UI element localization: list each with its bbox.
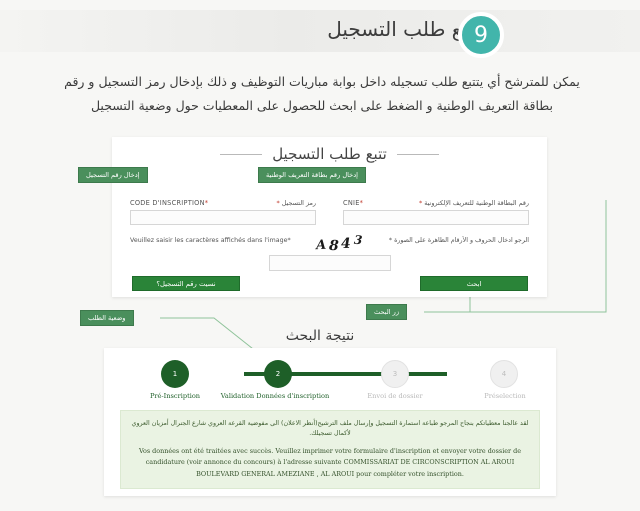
progress-stepper: 1 2 3 4 Pré-Inscription Validation Donné… <box>104 356 556 402</box>
forgot-code-button[interactable]: نسيت رقم التسجيل؟ <box>132 276 240 291</box>
field-cnie-required-fr: * <box>360 199 364 207</box>
intro-paragraph: يمكن للمترشح أي يتتبع طلب تسجيله داخل بو… <box>52 70 592 119</box>
field-code-label-fr: CODE D'INSCRIPTION* <box>130 199 208 207</box>
stepper-node-3-number: 3 <box>393 370 397 378</box>
code-inscription-input[interactable] <box>130 210 316 225</box>
field-code-required-ar: * <box>276 199 279 207</box>
callout-cnie: إدخال رقم بطاقة التعريف الوطنية <box>258 167 366 183</box>
field-code-label-ar: رمز التسجيل * <box>276 199 316 207</box>
stepper-label-2: Validation Données d'inscription <box>210 392 340 400</box>
stepper-node-3: 3 <box>381 360 409 388</box>
page-root: تتبع طلب التسجيل 9 يمكن للمترشح أي يتتبع… <box>0 0 640 511</box>
captcha-hint-fr: Veuillez saisir les caractères affichés … <box>130 237 291 244</box>
stepper-node-2: 2 <box>264 360 292 388</box>
stepper-node-2-number: 2 <box>276 370 280 378</box>
field-code-inscription: CODE D'INSCRIPTION* رمز التسجيل * <box>130 195 316 226</box>
step-number-label: 9 <box>474 23 488 48</box>
stepper-bar-2 <box>267 372 447 376</box>
stepper-node-4-number: 4 <box>502 370 506 378</box>
captcha-hint-ar: الرجو ادخال الحروف و الأرقام الظاهرة على… <box>389 237 529 244</box>
field-code-required-fr: * <box>205 199 209 207</box>
result-message-fr: Vos données ont été traitées avec succès… <box>131 446 529 480</box>
form-fields-row: CODE D'INSCRIPTION* رمز التسجيل * CNIE* … <box>112 195 547 237</box>
search-button[interactable]: ابحث <box>420 276 528 291</box>
form-title: تتبع طلب التسجيل <box>272 145 387 163</box>
captcha-input[interactable] <box>269 255 391 271</box>
captcha-char-2: 8 <box>328 238 338 254</box>
result-message-ar: لقد عالجنا معطياتكم بنجاح المرجو طباعة ا… <box>131 419 529 439</box>
result-message-box: لقد عالجنا معطياتكم بنجاح المرجو طباعة ا… <box>120 410 540 489</box>
field-cnie-required-ar: * <box>419 199 422 207</box>
captcha-char-1: A <box>315 237 326 253</box>
cnie-input[interactable] <box>343 210 529 225</box>
field-cnie: CNIE* رقم البطاقة الوطنية للتعريف الإلكت… <box>343 195 529 226</box>
field-cnie-label-fr: CNIE* <box>343 199 363 207</box>
captcha-char-4: 3 <box>354 233 363 248</box>
form-title-row: تتبع طلب التسجيل <box>112 145 547 163</box>
field-cnie-label-ar: رقم البطاقة الوطنية للتعريف الإلكترونية … <box>419 199 529 207</box>
callout-code-inscription: إدخال رقم التسجيل <box>78 167 148 183</box>
title-rule-left <box>220 154 262 155</box>
field-cnie-labels: CNIE* رقم البطاقة الوطنية للتعريف الإلكت… <box>343 195 529 207</box>
title-rule-right <box>397 154 439 155</box>
tracking-form-card: تتبع طلب التسجيل CODE D'INSCRIPTION* رمز… <box>112 137 547 297</box>
results-card: 1 2 3 4 Pré-Inscription Validation Donné… <box>104 348 556 496</box>
captcha-row: Veuillez saisir les caractères affichés … <box>112 237 547 255</box>
captcha-image: A 8 4 3 <box>291 233 387 255</box>
step-number-badge: 9 <box>458 12 504 58</box>
stepper-label-4: Préselection <box>440 392 570 400</box>
results-title: نتيجة البحث <box>0 328 640 344</box>
header-band <box>0 10 640 52</box>
stepper-node-4: 4 <box>490 360 518 388</box>
captcha-char-3: 4 <box>341 236 351 252</box>
page-title: تتبع طلب التسجيل <box>327 17 480 41</box>
stepper-node-1: 1 <box>161 360 189 388</box>
stepper-node-1-number: 1 <box>173 370 177 378</box>
callout-request-status: وضعية الطلب <box>80 310 134 326</box>
callout-search-button: زر البحث <box>366 304 407 320</box>
field-code-labels: CODE D'INSCRIPTION* رمز التسجيل * <box>130 195 316 207</box>
